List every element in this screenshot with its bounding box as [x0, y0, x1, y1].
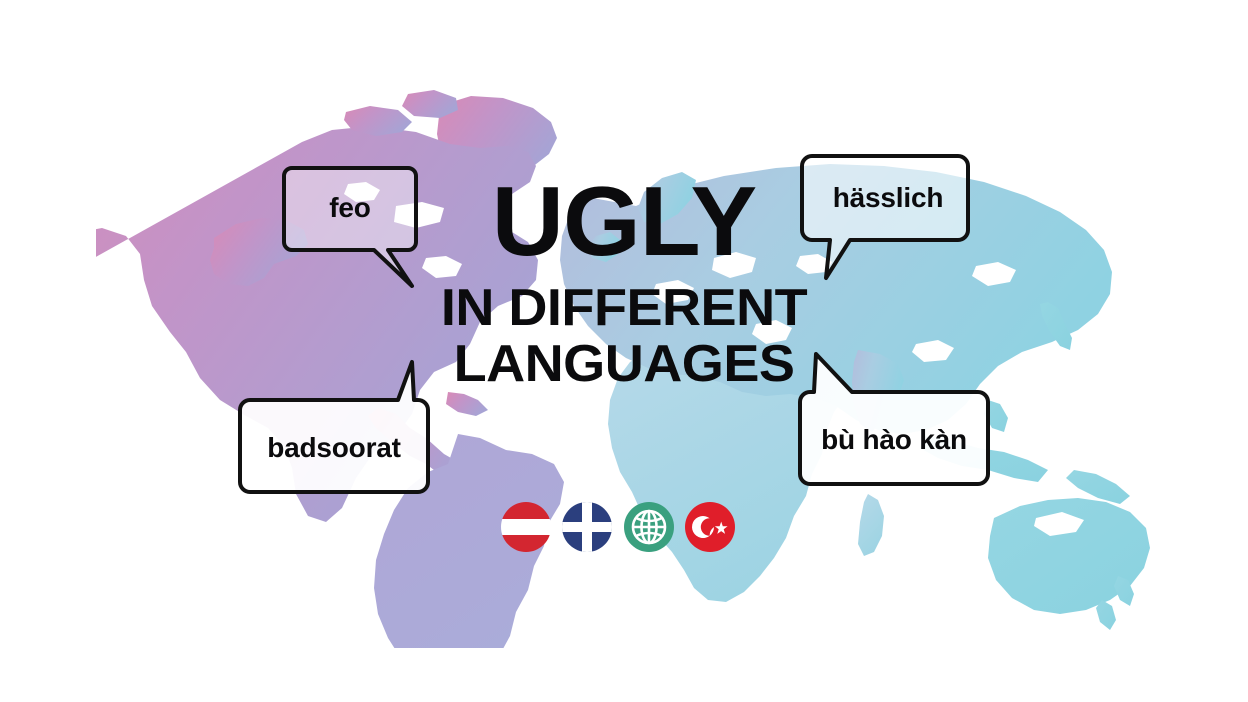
speech-bubble-hasslich[interactable]: hässlich	[800, 152, 976, 282]
speech-bubble-badsoorat[interactable]: badsoorat	[236, 360, 432, 496]
speech-bubble-feo-label: feo	[282, 164, 418, 252]
speech-bubble-hasslich-label: hässlich	[800, 152, 976, 244]
map-madagascar	[858, 494, 884, 556]
speech-bubble-buhaokan[interactable]: bù hào kàn	[796, 352, 992, 488]
map-new-zealand-2	[1096, 600, 1116, 630]
nordic-cross-flag-icon[interactable]	[561, 501, 613, 553]
globe-icon[interactable]	[623, 501, 675, 553]
speech-bubble-badsoorat-label: badsoorat	[236, 400, 432, 496]
speech-bubble-feo[interactable]: feo	[282, 164, 426, 294]
poster-canvas: UGLY IN DIFFERENT LANGUAGES feo hässlich…	[0, 0, 1248, 702]
speech-bubble-buhaokan-label: bù hào kàn	[796, 392, 992, 488]
austria-flag-icon[interactable]	[500, 501, 552, 553]
turkey-flag-icon[interactable]	[684, 501, 736, 553]
language-flag-row	[500, 498, 736, 556]
map-caribbean	[446, 392, 488, 416]
world-map	[0, 0, 1248, 702]
